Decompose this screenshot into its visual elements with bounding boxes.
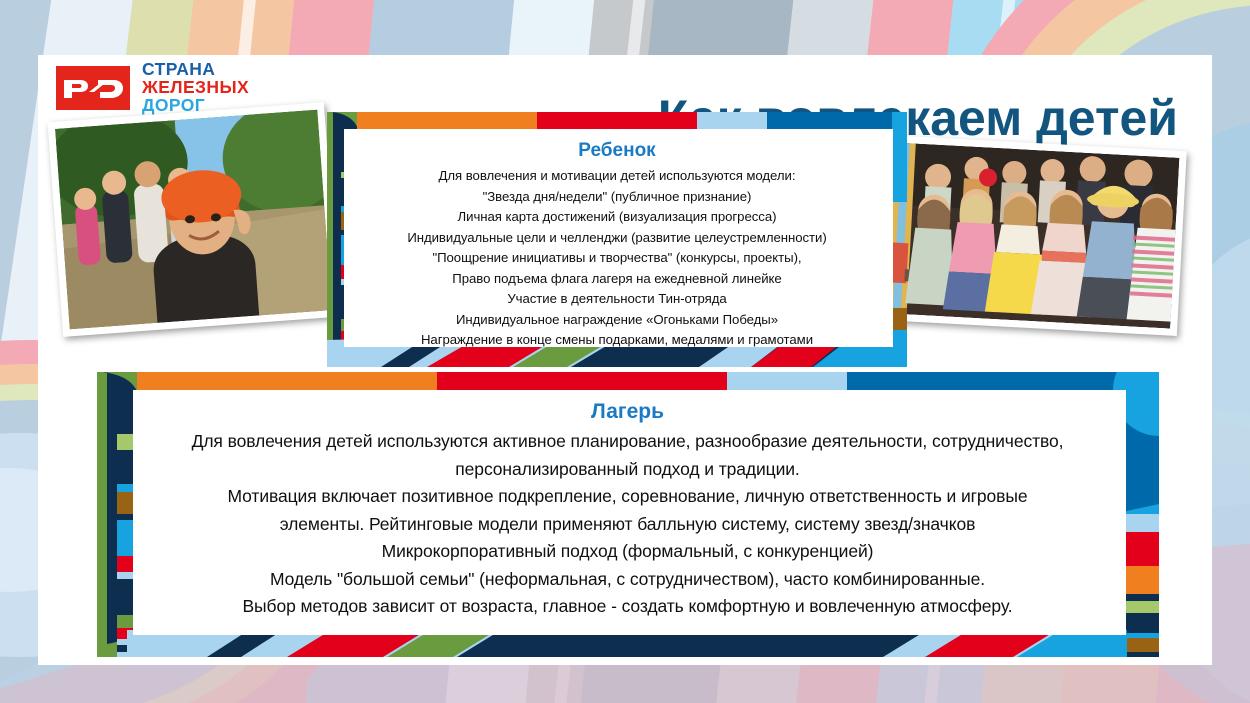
photo-children-on-benches bbox=[877, 135, 1187, 336]
child-box-line: Право подъема флага лагеря на ежедневной… bbox=[352, 269, 882, 290]
camp-box-line: Модель "большой семьи" (неформальная, с … bbox=[140, 566, 1115, 594]
child-box-line: "Звезда дня/недели" (публичное признание… bbox=[352, 187, 882, 208]
camp-box-heading: Лагерь bbox=[140, 400, 1115, 424]
photo-1-graphic bbox=[55, 110, 332, 330]
rzd-monogram-icon bbox=[62, 75, 124, 101]
child-box-line: Индивидуальные цели и челленджи (развити… bbox=[352, 228, 882, 249]
child-box-heading: Ребенок bbox=[352, 140, 882, 162]
child-box-content: Ребенок Для вовлечения и мотивации детей… bbox=[352, 140, 882, 351]
child-box-line: Участие в деятельности Тин-отряда bbox=[352, 289, 882, 310]
camp-box-line: Мотивация включает позитивное подкреплен… bbox=[140, 483, 1115, 511]
child-box-line: Индивидуальное награждение «Огоньками По… bbox=[352, 310, 882, 331]
logo-line-2: ЖЕЛЕЗНЫХ bbox=[142, 79, 249, 97]
child-box-line: Награждение в конце смены подарками, мед… bbox=[352, 330, 882, 351]
child-box-line: Личная карта достижений (визуализация пр… bbox=[352, 207, 882, 228]
rzd-logo-mark bbox=[56, 66, 130, 110]
camp-box-line: Микрокорпоративный подход (формальный, с… bbox=[140, 538, 1115, 566]
camp-box-line: Выбор методов зависит от возраста, главн… bbox=[140, 593, 1115, 621]
photo-boy-in-orange-helmet bbox=[47, 102, 339, 337]
rzd-logo: СТРАНА ЖЕЛЕЗНЫХ ДОРОГ bbox=[56, 61, 249, 115]
camp-box-content: Лагерь Для вовлечения детей используются… bbox=[140, 400, 1115, 621]
camp-box-line: элементы. Рейтинговые модели применяют б… bbox=[140, 511, 1115, 539]
photo-2-graphic bbox=[885, 142, 1180, 328]
child-box-line: Для вовлечения и мотивации детей использ… bbox=[352, 166, 882, 187]
logo-wordmark: СТРАНА ЖЕЛЕЗНЫХ ДОРОГ bbox=[142, 61, 249, 115]
child-box-line: "Поощрение инициативы и творчества" (кон… bbox=[352, 248, 882, 269]
camp-box-line: Для вовлечения детей используются активн… bbox=[140, 428, 1115, 456]
camp-box-line: персонализированный подход и традиции. bbox=[140, 456, 1115, 484]
